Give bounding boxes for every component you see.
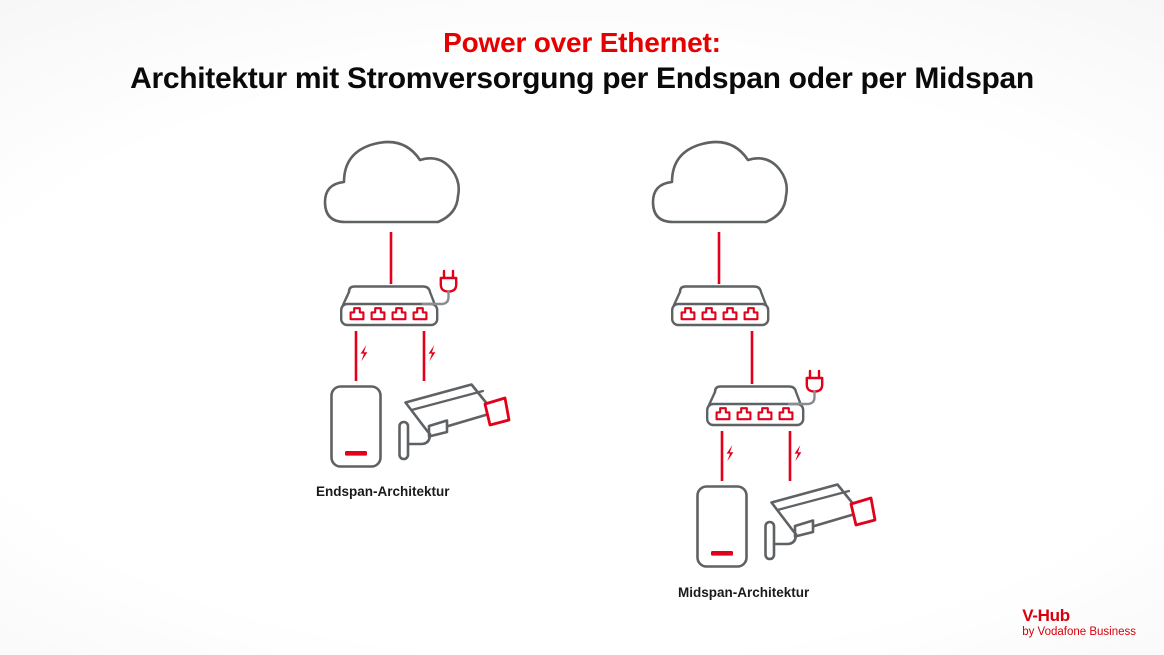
poe-bolt-icon [361, 345, 368, 361]
endspan-caption: Endspan-Architektur [316, 484, 450, 499]
cloud-icon [653, 142, 787, 222]
ip-phone-icon [698, 487, 747, 567]
cctv-camera-icon [400, 385, 510, 460]
diagram-canvas: Power over Ethernet: Architektur mit Str… [0, 0, 1164, 655]
midspan-diagram [653, 142, 875, 567]
midspan-injector-icon [707, 387, 803, 426]
network-switch-icon [672, 287, 768, 326]
brand-subtitle: by Vodafone Business [1022, 626, 1136, 639]
poe-bolt-icon [727, 445, 734, 461]
brand-name: V-Hub [1022, 606, 1136, 626]
network-switch-icon [341, 287, 437, 326]
poe-bolt-icon [429, 345, 436, 361]
cloud-icon [325, 142, 459, 222]
poe-architecture-illustration [0, 0, 1164, 655]
midspan-caption: Midspan-Architektur [678, 585, 809, 600]
cctv-camera-icon [766, 485, 876, 560]
poe-bolt-icon [795, 445, 802, 461]
endspan-diagram [325, 142, 509, 467]
brand-logo: V-Hub by Vodafone Business [1022, 606, 1136, 639]
ip-phone-icon [332, 387, 381, 467]
